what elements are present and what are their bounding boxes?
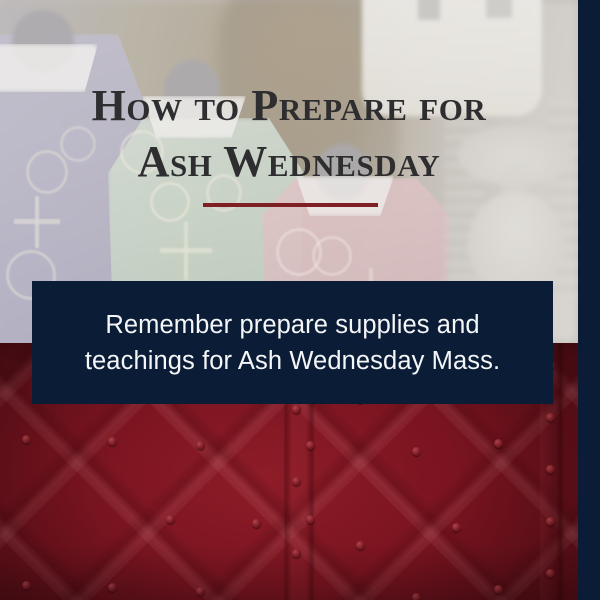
- callout-message-text: Remember prepare supplies and teachings …: [54, 307, 532, 379]
- page-title: How to Prepare for Ash Wednesday: [0, 78, 578, 190]
- title-line-1: How to Prepare for: [0, 78, 578, 134]
- message-callout-box: Remember prepare supplies and teachings …: [32, 281, 553, 404]
- title-line-2: Ash Wednesday: [0, 134, 578, 190]
- right-accent-strip: [578, 0, 600, 600]
- graphic-canvas: How to Prepare for Ash Wednesday Remembe…: [0, 0, 600, 600]
- title-underline-rule: [203, 203, 378, 207]
